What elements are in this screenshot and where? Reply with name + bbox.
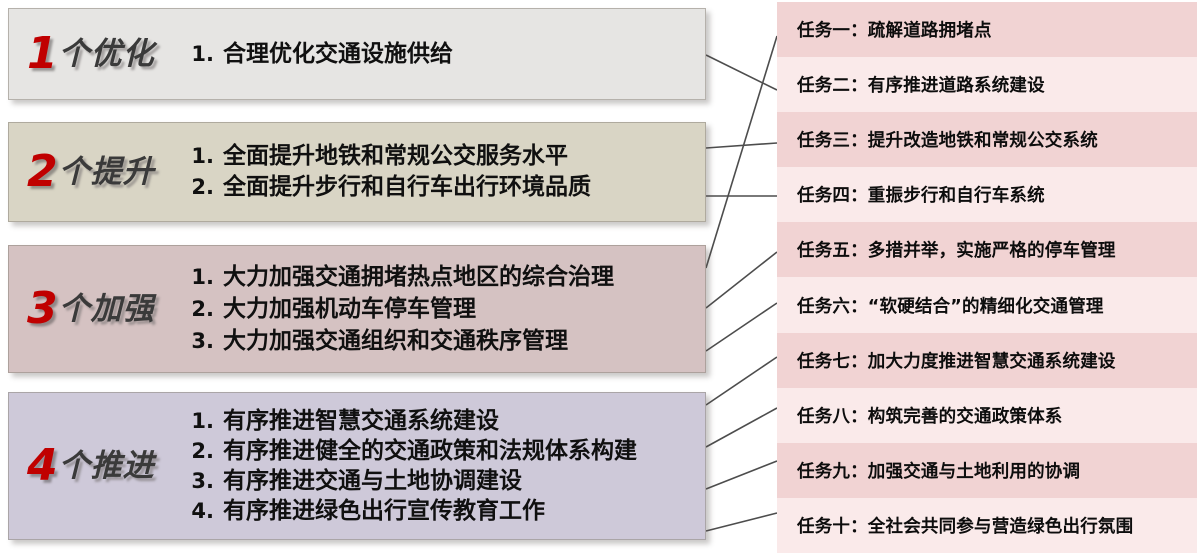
task-label: 任务七：加大力度推进智慧交通系统建设 bbox=[797, 348, 1116, 373]
task-row[interactable]: 任务五：多措并举，实施严格的停车管理 bbox=[777, 222, 1197, 277]
group-item: 2. 有序推进健全的交通政策和法规体系构建 bbox=[184, 440, 695, 463]
diagram-canvas: 1 个优化 1. 合理优化交通设施供给 2 个提升 1. 全面提升地铁和常规公交… bbox=[0, 0, 1200, 555]
item-number: 4. bbox=[184, 501, 214, 522]
group-number-4: 4 bbox=[27, 446, 57, 486]
group-item: 2. 大力加强机动车停车管理 bbox=[184, 298, 695, 321]
item-number: 1. bbox=[184, 146, 214, 167]
task-row[interactable]: 任务八：构筑完善的交通政策体系 bbox=[777, 388, 1197, 443]
task-label: 任务八：构筑完善的交通政策体系 bbox=[797, 403, 1063, 428]
connector-line bbox=[706, 36, 777, 268]
connector-line bbox=[706, 55, 777, 90]
connector-line bbox=[706, 303, 777, 351]
task-label: 任务六：“软硬结合”的精细化交通管理 bbox=[797, 293, 1104, 318]
task-label: 任务十：全社会共同参与营造绿色出行氛围 bbox=[797, 513, 1133, 538]
group-word-1: 个优化 bbox=[59, 39, 155, 70]
task-row[interactable]: 任务七：加大力度推进智慧交通系统建设 bbox=[777, 333, 1197, 388]
group-item: 3. 有序推进交通与土地协调建设 bbox=[184, 470, 695, 493]
group-box-2[interactable]: 2 个提升 1. 全面提升地铁和常规公交服务水平 2. 全面提升步行和自行车出行… bbox=[8, 122, 706, 222]
group-items-2: 1. 全面提升地铁和常规公交服务水平 2. 全面提升步行和自行车出行环境品质 bbox=[184, 137, 705, 207]
group-box-3[interactable]: 3 个加强 1. 大力加强交通拥堵热点地区的综合治理 2. 大力加强机动车停车管… bbox=[8, 245, 706, 373]
task-label: 任务四：重振步行和自行车系统 bbox=[797, 182, 1045, 207]
group-item: 1. 合理优化交通设施供给 bbox=[184, 43, 695, 66]
item-number: 1. bbox=[184, 411, 214, 432]
group-item: 1. 有序推进智慧交通系统建设 bbox=[184, 410, 695, 433]
item-number: 2. bbox=[184, 177, 214, 198]
group-word-3: 个加强 bbox=[59, 294, 155, 325]
group-box-1[interactable]: 1 个优化 1. 合理优化交通设施供给 bbox=[8, 8, 706, 100]
item-number: 3. bbox=[184, 331, 214, 352]
item-number: 1. bbox=[184, 44, 214, 65]
item-number: 1. bbox=[184, 267, 214, 288]
connector-line bbox=[706, 408, 777, 447]
item-text: 有序推进智慧交通系统建设 bbox=[223, 410, 499, 433]
task-row[interactable]: 任务三：提升改造地铁和常规公交系统 bbox=[777, 112, 1197, 167]
item-text: 有序推进绿色出行宣传教育工作 bbox=[223, 500, 545, 523]
group-number-3: 3 bbox=[27, 289, 57, 329]
task-list: 任务一：疏解道路拥堵点 任务二：有序推进道路系统建设 任务三：提升改造地铁和常规… bbox=[777, 2, 1197, 553]
task-label: 任务三：提升改造地铁和常规公交系统 bbox=[797, 127, 1098, 152]
group-item: 2. 全面提升步行和自行车出行环境品质 bbox=[184, 176, 695, 199]
group-number-2: 2 bbox=[27, 152, 57, 192]
item-text: 大力加强交通拥堵热点地区的综合治理 bbox=[223, 266, 614, 289]
item-text: 合理优化交通设施供给 bbox=[223, 43, 453, 66]
group-word-4: 个推进 bbox=[59, 451, 155, 482]
group-item: 1. 大力加强交通拥堵热点地区的综合治理 bbox=[184, 266, 695, 289]
group-badge-4: 4 个推进 bbox=[9, 446, 184, 486]
group-items-3: 1. 大力加强交通拥堵热点地区的综合治理 2. 大力加强机动车停车管理 3. 大… bbox=[184, 257, 705, 362]
item-text: 大力加强交通组织和交通秩序管理 bbox=[223, 330, 568, 353]
group-item: 1. 全面提升地铁和常规公交服务水平 bbox=[184, 145, 695, 168]
task-label: 任务九：加强交通与土地利用的协调 bbox=[797, 458, 1080, 483]
item-number: 2. bbox=[184, 441, 214, 462]
item-text: 全面提升地铁和常规公交服务水平 bbox=[223, 145, 568, 168]
connector-line bbox=[706, 357, 777, 405]
task-row[interactable]: 任务十：全社会共同参与营造绿色出行氛围 bbox=[777, 498, 1197, 553]
group-badge-2: 2 个提升 bbox=[9, 152, 184, 192]
item-text: 大力加强机动车停车管理 bbox=[223, 298, 476, 321]
connector-line bbox=[706, 513, 777, 531]
item-text: 有序推进健全的交通政策和法规体系构建 bbox=[223, 440, 637, 463]
connector-line bbox=[706, 252, 777, 308]
group-badge-1: 1 个优化 bbox=[9, 34, 184, 74]
task-row[interactable]: 任务九：加强交通与土地利用的协调 bbox=[777, 443, 1197, 498]
item-text: 全面提升步行和自行车出行环境品质 bbox=[223, 176, 591, 199]
group-items-1: 1. 合理优化交通设施供给 bbox=[184, 43, 705, 66]
task-label: 任务二：有序推进道路系统建设 bbox=[797, 72, 1045, 97]
task-row[interactable]: 任务四：重振步行和自行车系统 bbox=[777, 167, 1197, 222]
group-box-4[interactable]: 4 个推进 1. 有序推进智慧交通系统建设 2. 有序推进健全的交通政策和法规体… bbox=[8, 392, 706, 540]
group-number-1: 1 bbox=[27, 34, 57, 74]
group-item: 3. 大力加强交通组织和交通秩序管理 bbox=[184, 330, 695, 353]
task-label: 任务五：多措并举，实施严格的停车管理 bbox=[797, 237, 1116, 262]
connector-line bbox=[706, 143, 777, 148]
item-number: 2. bbox=[184, 299, 214, 320]
group-word-2: 个提升 bbox=[59, 157, 155, 188]
group-badge-3: 3 个加强 bbox=[9, 289, 184, 329]
task-row[interactable]: 任务一：疏解道路拥堵点 bbox=[777, 2, 1197, 57]
task-label: 任务一：疏解道路拥堵点 bbox=[797, 17, 992, 42]
connector-line bbox=[706, 461, 777, 489]
item-number: 3. bbox=[184, 471, 214, 492]
task-row[interactable]: 任务六：“软硬结合”的精细化交通管理 bbox=[777, 277, 1197, 332]
group-item: 4. 有序推进绿色出行宣传教育工作 bbox=[184, 500, 695, 523]
group-items-4: 1. 有序推进智慧交通系统建设 2. 有序推进健全的交通政策和法规体系构建 3.… bbox=[184, 403, 705, 530]
item-text: 有序推进交通与土地协调建设 bbox=[223, 470, 522, 493]
task-row[interactable]: 任务二：有序推进道路系统建设 bbox=[777, 57, 1197, 112]
